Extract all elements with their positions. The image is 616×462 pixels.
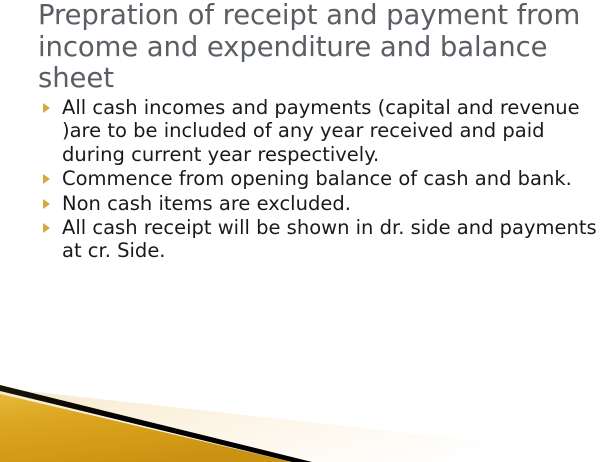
slide-canvas: Prepration of receipt and payment from i… — [0, 0, 616, 462]
bullet-text: All cash incomes and payments (capital a… — [62, 96, 600, 166]
bullet-text: Non cash items are excluded. — [62, 192, 600, 215]
bullet-text: Commence from opening balance of cash an… — [62, 167, 600, 190]
triangle-right-icon — [43, 199, 50, 209]
bullet-list: All cash incomes and payments (capital a… — [40, 96, 600, 264]
slide-title: Prepration of receipt and payment from i… — [38, 0, 604, 95]
gold-diagonal-wedge-icon — [0, 382, 616, 462]
list-item: All cash incomes and payments (capital a… — [40, 96, 600, 166]
list-item: Non cash items are excluded. — [40, 192, 600, 215]
list-item: All cash receipt will be shown in dr. si… — [40, 216, 600, 263]
bullet-text: All cash receipt will be shown in dr. si… — [62, 216, 600, 263]
triangle-right-icon — [43, 174, 50, 184]
triangle-right-icon — [43, 103, 50, 113]
triangle-right-icon — [43, 223, 50, 233]
list-item: Commence from opening balance of cash an… — [40, 167, 600, 190]
